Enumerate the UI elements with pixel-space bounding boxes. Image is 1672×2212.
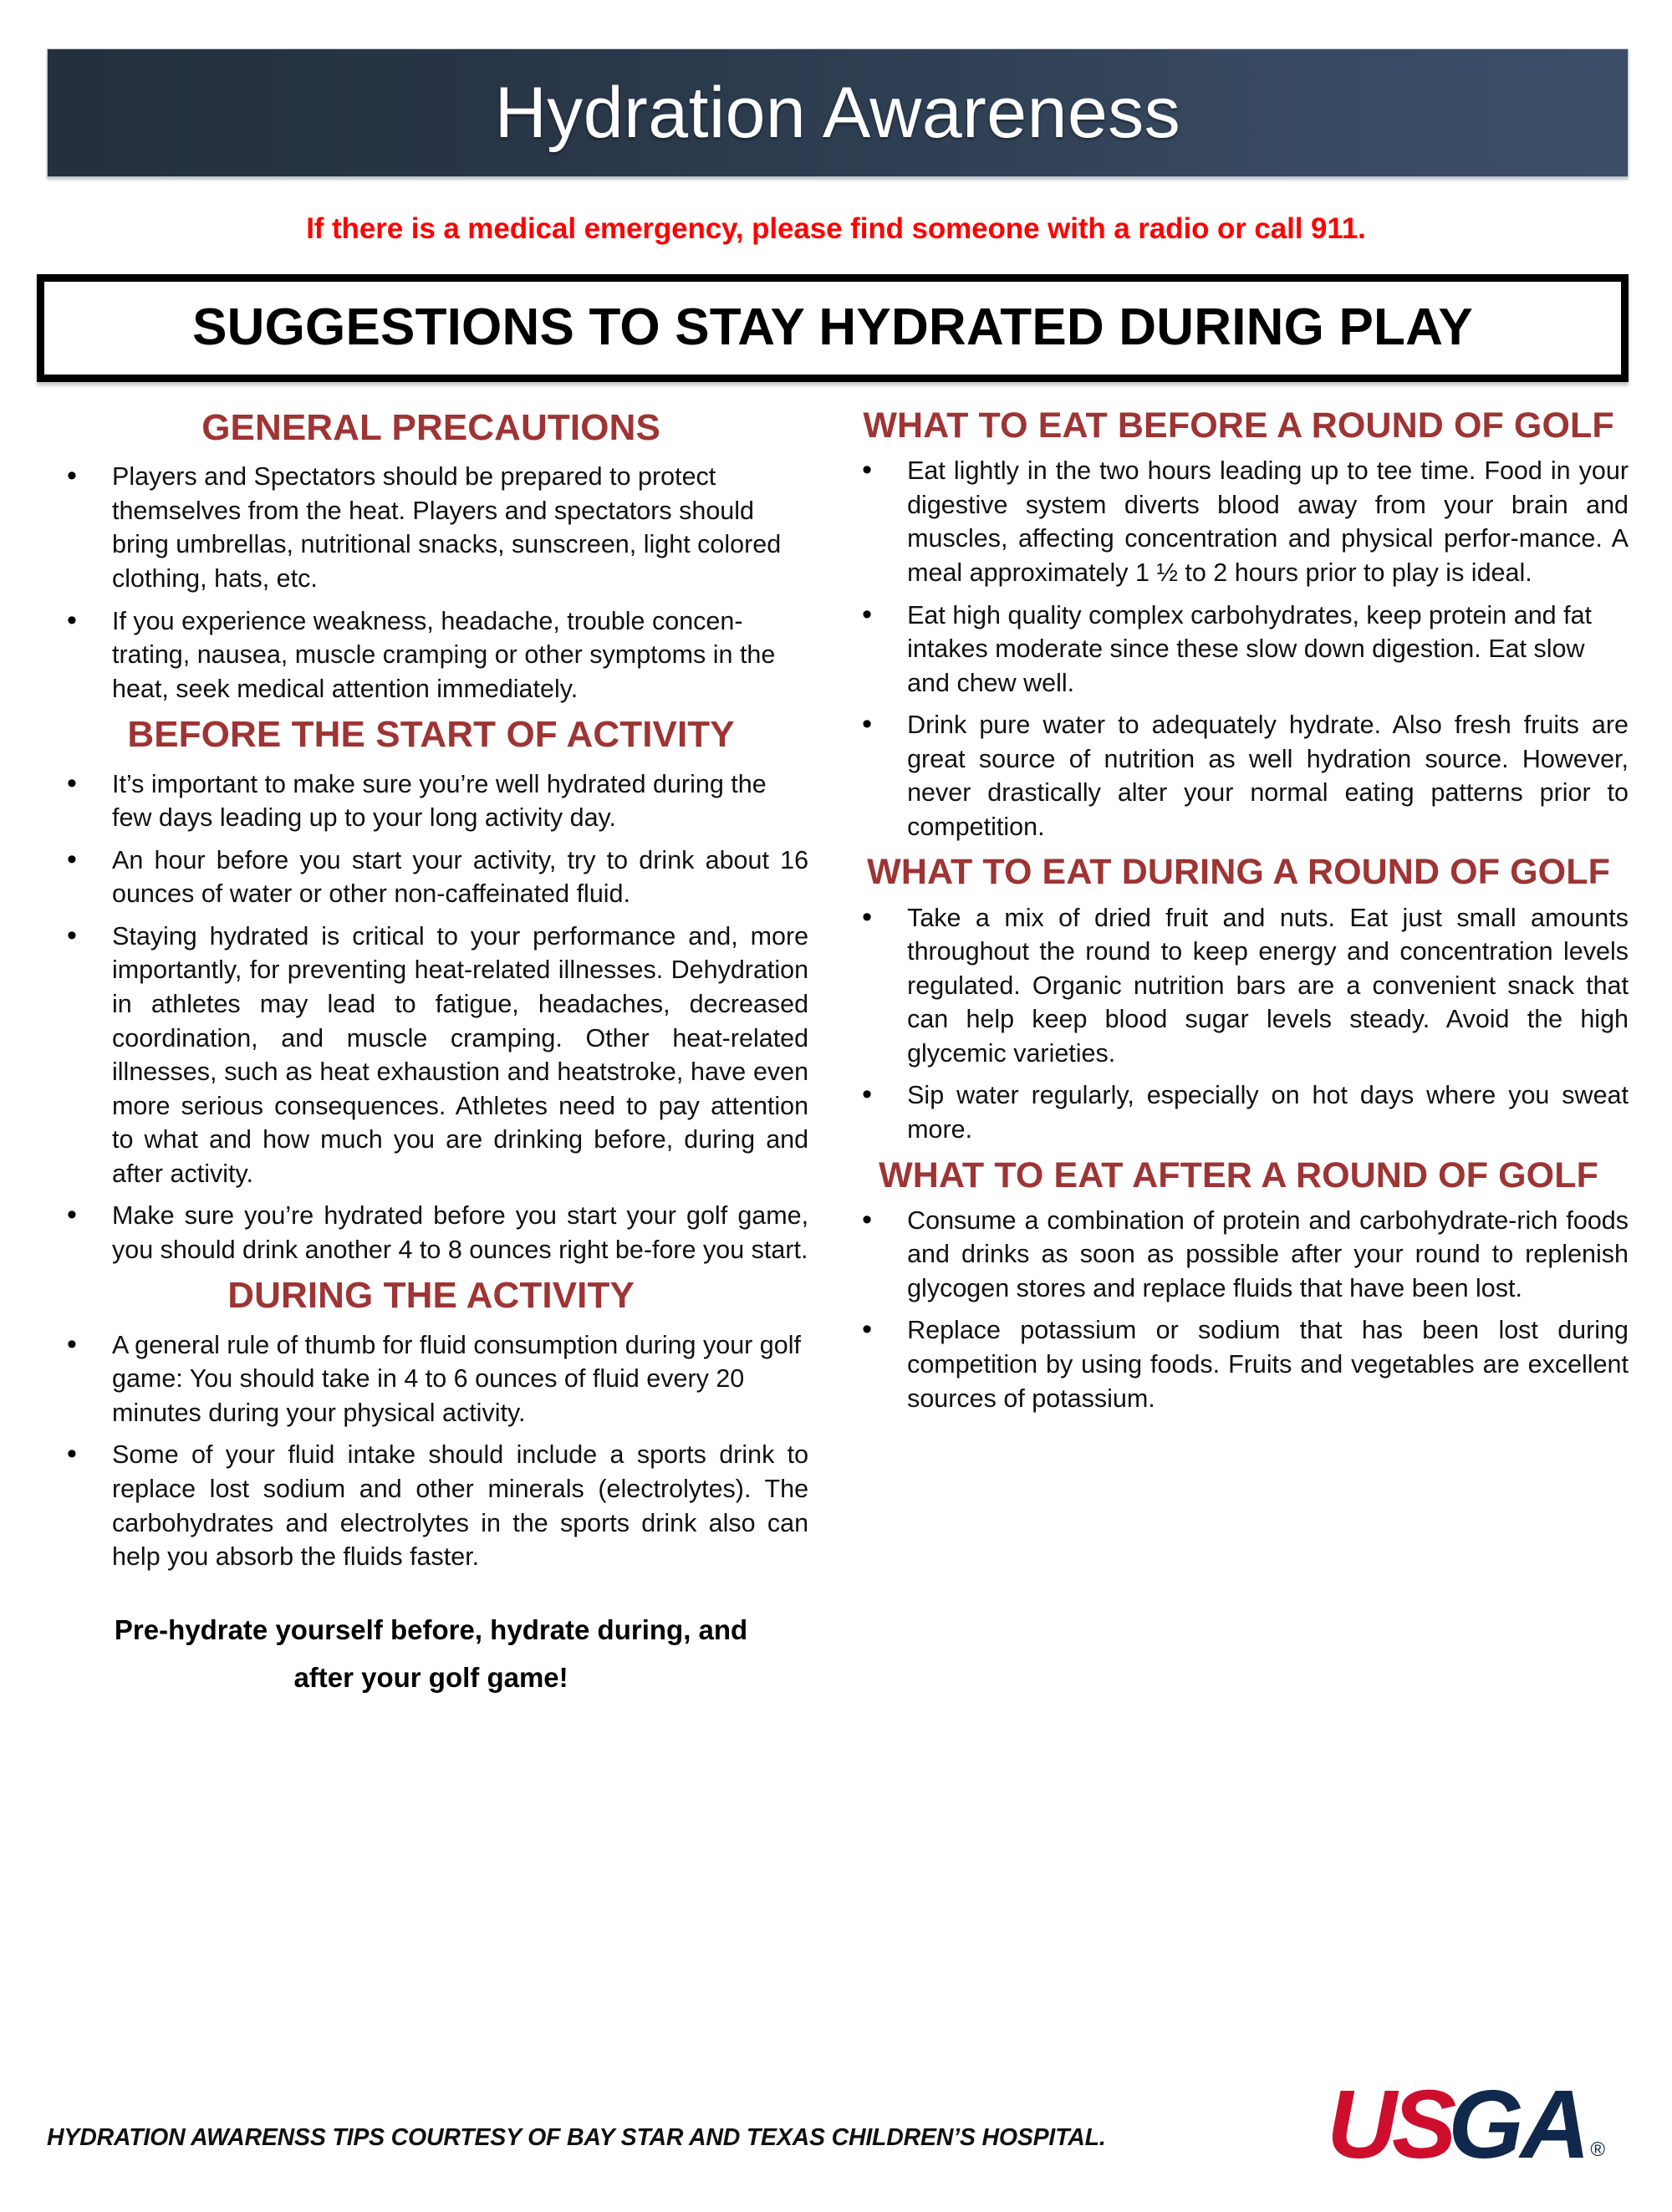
list-item: Players and Spectators should be prepare… — [54, 460, 808, 595]
emergency-notice: If there is a medical emergency, please … — [30, 212, 1642, 246]
list-item: Sip water regularly, especially on hot d… — [849, 1078, 1629, 1146]
section-heading-during-the-activity: DURING THE ACTIVITY — [54, 1275, 808, 1316]
bullet-list-general-precautions: Players and Spectators should be prepare… — [54, 460, 808, 706]
list-item: Eat lightly in the two hours leading up … — [849, 454, 1629, 589]
list-item: A general rule of thumb for fluid consum… — [54, 1328, 808, 1430]
list-item: Staying hydrated is critical to your per… — [54, 920, 808, 1191]
bullet-list-what-to-eat-during: Take a mix of dried fruit and nuts. Eat … — [849, 901, 1629, 1147]
right-column: WHAT TO EAT BEFORE A ROUND OF GOLF Eat l… — [823, 404, 1642, 1424]
left-column: GENERAL PRECAUTIONS Players and Spectato… — [30, 404, 823, 1702]
registered-trademark-icon: ® — [1590, 2142, 1605, 2165]
bullet-list-what-to-eat-before: Eat lightly in the two hours leading up … — [849, 454, 1629, 844]
section-heading-what-to-eat-before: WHAT TO EAT BEFORE A ROUND OF GOLF — [849, 405, 1629, 446]
bullet-list-before-start-of-activity: It’s important to make sure you’re well … — [54, 767, 808, 1267]
section-heading-what-to-eat-after: WHAT TO EAT AFTER A ROUND OF GOLF — [849, 1155, 1629, 1195]
list-item: Take a mix of dried fruit and nuts. Eat … — [849, 901, 1629, 1071]
section-heading-what-to-eat-during: WHAT TO EAT DURING A ROUND OF GOLF — [849, 852, 1629, 892]
document-title: Hydration Awareness — [495, 77, 1181, 149]
list-item: Consume a combination of protein and car… — [849, 1204, 1629, 1306]
list-item: It’s important to make sure you’re well … — [54, 767, 808, 835]
list-item: Drink pure water to adequately hydrate. … — [849, 708, 1629, 844]
bullet-list-during-the-activity: A general rule of thumb for fluid consum… — [54, 1328, 808, 1574]
usga-logo: USGA® — [1327, 2084, 1639, 2165]
closing-statement: Pre-hydrate yourself before, hydrate dur… — [54, 1606, 808, 1703]
headline-box: SUGGESTIONS TO STAY HYDRATED DURING PLAY — [37, 274, 1629, 382]
usga-logo-us-text: US — [1327, 2084, 1451, 2165]
list-item: Make sure you’re hydrated before you sta… — [54, 1199, 808, 1267]
list-item: Some of your fluid intake should include… — [54, 1438, 808, 1573]
list-item: Eat high quality complex carbohydrates, … — [849, 599, 1629, 701]
list-item: Replace potassium or sodium that has bee… — [849, 1313, 1629, 1415]
section-heading-general-precautions: GENERAL PRECAUTIONS — [54, 407, 808, 448]
section-heading-before-start-of-activity: BEFORE THE START OF ACTIVITY — [54, 714, 808, 755]
headline-text: SUGGESTIONS TO STAY HYDRATED DURING PLAY — [44, 300, 1621, 354]
page-footer: HYDRATION AWARENSS TIPS COURTESY OF BAY … — [0, 2023, 1672, 2165]
content-columns: GENERAL PRECAUTIONS Players and Spectato… — [30, 404, 1642, 1702]
document-page: Hydration Awareness If there is a medica… — [0, 48, 1672, 2212]
footer-credit-note: HYDRATION AWARENSS TIPS COURTESY OF BAY … — [47, 2124, 1106, 2165]
list-item: An hour before you start your activity, … — [54, 844, 808, 911]
usga-logo-ga-text: GA — [1448, 2084, 1587, 2165]
bullet-list-what-to-eat-after: Consume a combination of protein and car… — [849, 1204, 1629, 1415]
list-item: If you experience weakness, headache, tr… — [54, 604, 808, 706]
header-banner: Hydration Awareness — [47, 48, 1629, 177]
